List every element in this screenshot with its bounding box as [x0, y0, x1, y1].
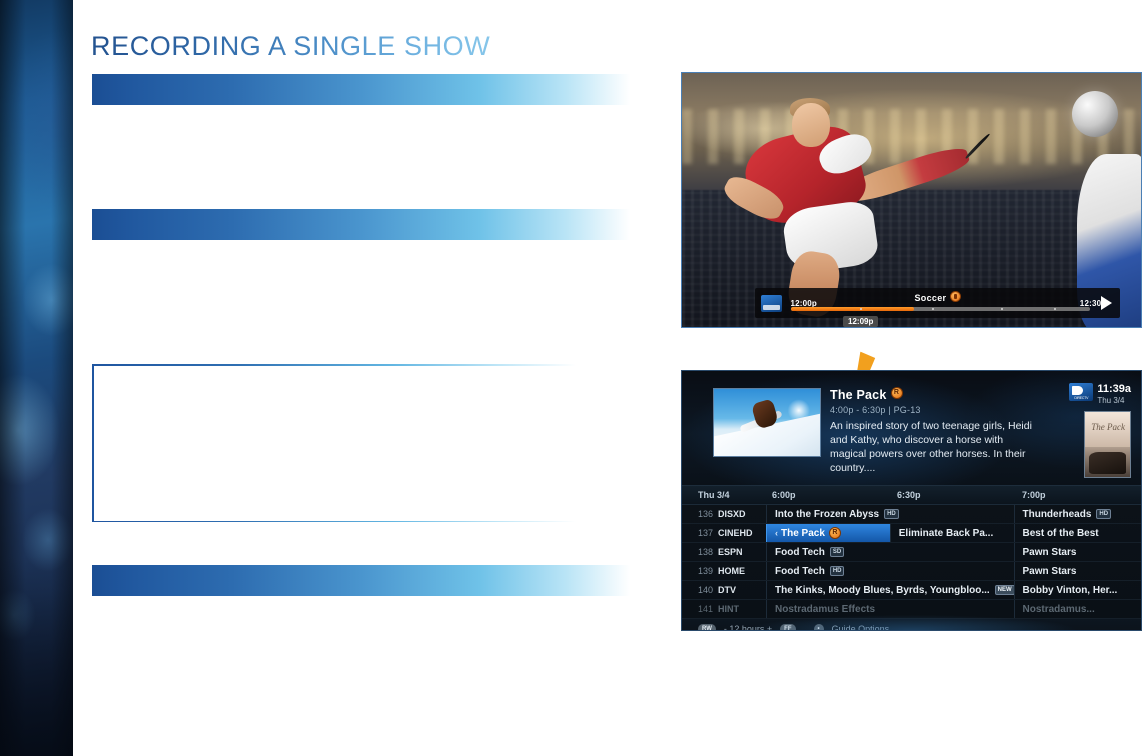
guide-program-cell[interactable]: The Kinks, Moody Blues, Byrds, Youngbloo… — [766, 581, 1014, 599]
guide-program-name: Thunderheads — [1023, 509, 1092, 520]
guide-clock: 11:39a Thu 3/4 — [1069, 383, 1131, 406]
guide-channel-callsign: DTV — [718, 585, 736, 595]
guide-time-slot: 6:00p — [766, 490, 891, 500]
guide-program-cell[interactable]: Nostradamus Effects — [766, 600, 1014, 618]
guide-program-cell[interactable]: Pawn Stars — [1014, 543, 1142, 561]
chevron-left-icon: ‹ — [775, 528, 778, 538]
record-badge-icon — [891, 387, 903, 399]
guide-clock-date: Thu 3/4 — [1097, 395, 1131, 406]
directv-logo-icon — [761, 295, 782, 312]
callout-box-top-edge — [92, 364, 576, 366]
guide-program-name: Into the Frozen Abyss — [775, 509, 879, 520]
rewind-key-icon[interactable]: RW — [698, 624, 716, 631]
guide-channel-number: 138 — [698, 547, 713, 557]
guide-program-cell[interactable]: ThunderheadsHD — [1014, 505, 1142, 523]
play-icon[interactable] — [1101, 296, 1112, 310]
callout-box — [92, 364, 576, 522]
guide-program-cell[interactable]: Food TechHD — [766, 562, 1014, 580]
guide-channel-number: 136 — [698, 509, 713, 519]
section-bar-2 — [92, 209, 630, 240]
guide-options-label[interactable]: Guide Options — [832, 624, 890, 631]
poster-horse-silhouette — [1089, 452, 1127, 474]
snowboarder-thumbnail — [713, 388, 821, 457]
guide-channel-callsign: HOME — [718, 566, 745, 576]
guide-channel-cell: 136DISXD — [682, 509, 766, 519]
guide-channel-callsign: ESPN — [718, 547, 743, 557]
page-title: RECORDING A SINGLE SHOW — [91, 31, 490, 62]
guide-program-cell-selected[interactable]: ‹The Pack — [766, 524, 890, 542]
guide-channel-number: 137 — [698, 528, 713, 538]
guide-program-meta: 4:00p - 6:30p | PG-13 — [830, 405, 1033, 415]
guide-program-cells: Food TechHDPawn Stars — [766, 562, 1141, 580]
playback-progress-track[interactable] — [791, 307, 1090, 311]
guide-program-cell[interactable]: Pawn Stars — [1014, 562, 1142, 580]
options-key-icon[interactable]: • — [814, 624, 824, 631]
playback-progress-fill — [791, 307, 914, 311]
guide-time-slot: 7:00p — [1016, 490, 1141, 500]
guide-program-cells: The Kinks, Moody Blues, Byrds, Youngbloo… — [766, 581, 1141, 599]
guide-channel-number: 141 — [698, 604, 713, 614]
guide-rating: PG-13 — [894, 405, 921, 415]
guide-channel-rows: 136DISXDInto the Frozen AbyssHDThunderhe… — [682, 504, 1141, 619]
guide-meta-separator: | — [888, 405, 891, 415]
guide-program-cell[interactable]: Best of the Best — [1014, 524, 1142, 542]
guide-channel-callsign: DISXD — [718, 509, 746, 519]
guide-channel-cell: 139HOME — [682, 566, 766, 576]
program-guide-screenshot: The Pack 4:00p - 6:30p | PG-13 An inspir… — [681, 370, 1142, 631]
section-bar-3 — [92, 565, 630, 596]
left-decorative-rail — [0, 0, 73, 756]
guide-row[interactable]: 136DISXDInto the Frozen AbyssHDThunderhe… — [682, 505, 1141, 524]
guide-program-cell[interactable]: Into the Frozen AbyssHD — [766, 505, 1014, 523]
guide-channel-cell: 138ESPN — [682, 547, 766, 557]
guide-program-title: The Pack — [830, 387, 1033, 402]
new-tag-icon: NEW — [995, 585, 1014, 595]
guide-program-cell[interactable]: Food TechSD — [766, 543, 1014, 561]
guide-legend-bar: RW - 12 hours + FF • Guide Options — [682, 619, 1141, 631]
guide-program-name: Bobby Vinton, Her... — [1023, 585, 1118, 596]
guide-program-name: Nostradamus... — [1023, 604, 1095, 615]
hd-tag-icon: HD — [1096, 509, 1111, 519]
guide-program-description: An inspired story of two teenage girls, … — [830, 419, 1033, 475]
rail-bottom-fade — [0, 556, 73, 756]
guide-channel-callsign: CINEHD — [718, 528, 753, 538]
playback-tick — [1001, 308, 1003, 310]
directv-logo-icon — [1069, 383, 1093, 401]
guide-program-cells: Food TechSDPawn Stars — [766, 543, 1141, 561]
guide-row[interactable]: 139HOMEFood TechHDPawn Stars — [682, 562, 1141, 581]
guide-time-range: 4:00p - 6:30p — [830, 405, 886, 415]
poster-title-script: The Pack — [1091, 422, 1125, 432]
hd-tag-icon: HD — [830, 566, 845, 576]
guide-row[interactable]: 141HINTNostradamus EffectsNostradamus... — [682, 600, 1141, 619]
forward-key-icon[interactable]: FF — [780, 624, 795, 631]
soccer-ball — [1072, 91, 1118, 137]
guide-program-name: Nostradamus Effects — [775, 604, 875, 615]
guide-row[interactable]: 137CINEHD‹The PackEliminate Back Pa...Be… — [682, 524, 1141, 543]
guide-program-name: Food Tech — [775, 566, 825, 577]
guide-program-cells: Nostradamus EffectsNostradamus... — [766, 600, 1141, 618]
guide-range-label: - 12 hours + — [724, 624, 772, 631]
playback-current-time-tooltip: 12:09p — [843, 316, 878, 327]
guide-program-cell[interactable]: Nostradamus... — [1014, 600, 1142, 618]
guide-channel-number: 139 — [698, 566, 713, 576]
playback-tick — [932, 308, 934, 310]
guide-header-date: Thu 3/4 — [682, 490, 766, 500]
guide-program-name: Food Tech — [775, 547, 825, 558]
live-tv-screenshot: 12:00p 12:30p Soccer 12:09p — [681, 72, 1142, 328]
guide-program-cell[interactable]: Eliminate Back Pa... — [890, 524, 1014, 542]
guide-channel-callsign: HINT — [718, 604, 739, 614]
sd-tag-icon: SD — [830, 547, 844, 557]
callout-box-bottom-edge — [92, 521, 576, 523]
record-dot-icon — [950, 291, 961, 302]
guide-program-name: The Kinks, Moody Blues, Byrds, Youngbloo… — [775, 585, 990, 596]
playback-bar[interactable]: 12:00p 12:30p Soccer 12:09p — [755, 288, 1120, 318]
record-badge-icon — [829, 527, 841, 539]
guide-program-name: Pawn Stars — [1023, 566, 1077, 577]
guide-program-cells: ‹The PackEliminate Back Pa...Best of the… — [766, 524, 1141, 542]
guide-program-info: The Pack 4:00p - 6:30p | PG-13 An inspir… — [830, 387, 1033, 475]
guide-time-slot: 6:30p — [891, 490, 1016, 500]
guide-program-name: Pawn Stars — [1023, 547, 1077, 558]
playback-title-text: Soccer — [914, 293, 946, 303]
section-bar-1 — [92, 74, 630, 105]
guide-title-text: The Pack — [830, 388, 887, 402]
guide-program-name: Eliminate Back Pa... — [899, 528, 994, 539]
movie-poster: The Pack — [1084, 411, 1131, 478]
guide-channel-cell: 137CINEHD — [682, 528, 766, 538]
guide-program-cells: Into the Frozen AbyssHDThunderheadsHD — [766, 505, 1141, 523]
guide-time-header: Thu 3/4 6:00p 6:30p 7:00p — [682, 485, 1141, 504]
soccer-player — [728, 98, 967, 311]
callout-box-left-edge — [92, 364, 94, 522]
playback-tick — [1054, 308, 1056, 310]
guide-row[interactable]: 138ESPNFood TechSDPawn Stars — [682, 543, 1141, 562]
guide-program-name: Best of the Best — [1023, 528, 1099, 539]
guide-program-name: The Pack — [781, 528, 825, 539]
guide-info-panel: The Pack 4:00p - 6:30p | PG-13 An inspir… — [682, 371, 1141, 485]
guide-row[interactable]: 140DTVThe Kinks, Moody Blues, Byrds, You… — [682, 581, 1141, 600]
guide-channel-cell: 140DTV — [682, 585, 766, 595]
guide-channel-number: 140 — [698, 585, 713, 595]
guide-channel-cell: 141HINT — [682, 604, 766, 614]
player-head — [792, 103, 830, 147]
guide-program-cell[interactable]: Bobby Vinton, Her... — [1014, 581, 1142, 599]
guide-clock-time: 11:39a — [1097, 383, 1131, 395]
hd-tag-icon: HD — [884, 509, 899, 519]
